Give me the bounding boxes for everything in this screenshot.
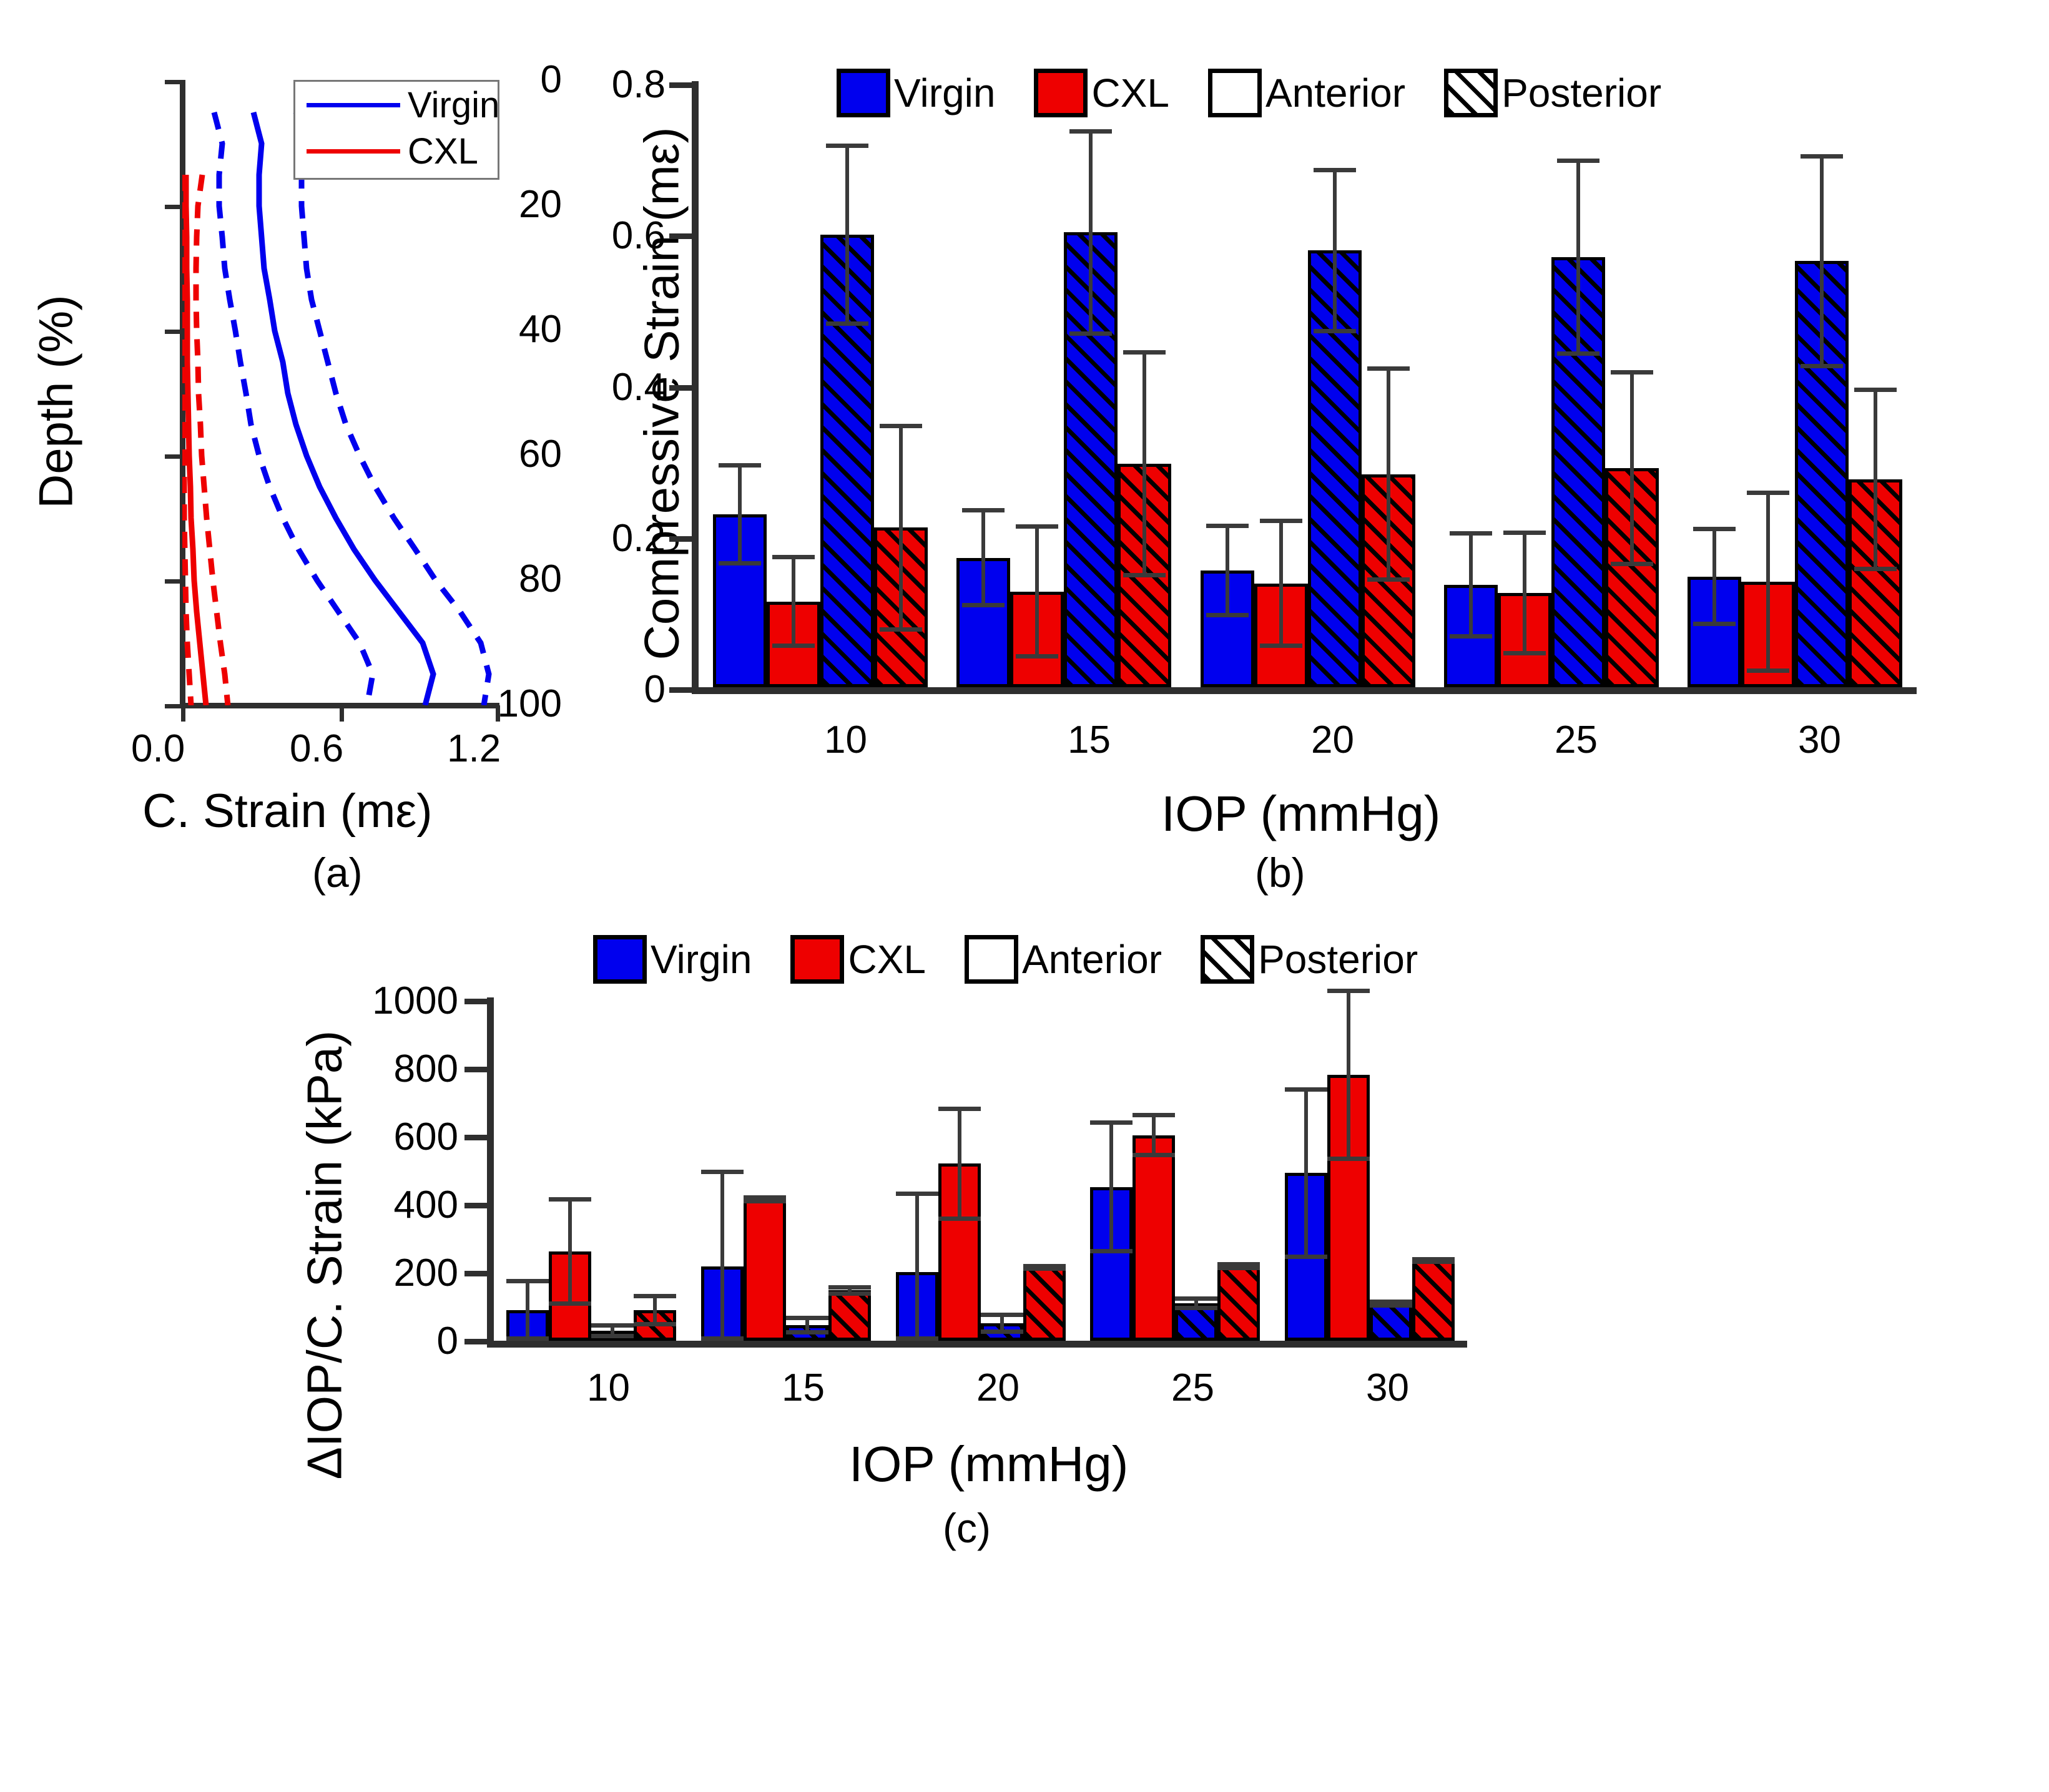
panel-b-ylabel-06: 0.6 [574, 213, 666, 258]
errorbar-c-10-solid-red [549, 1197, 591, 1306]
panel-c-ytick-200 [464, 1271, 488, 1276]
panel-c-legend-label-anterior: Anterior [1022, 936, 1162, 982]
panel-c-legend-label-cxl: CXL [848, 936, 926, 982]
errorbar-b-20-solid-red [1254, 519, 1308, 648]
errorbar-b-15-hatch-red [1118, 350, 1171, 577]
panel-c-x-axis-title: IOP (mmHg) [849, 1436, 1128, 1493]
panel-a-legend-item-virgin: Virgin [302, 83, 501, 127]
panel-a-ytick-40 [165, 330, 182, 334]
panel-c-bars [494, 1001, 1467, 1341]
panel-b-xlabel-25: 25 [1555, 718, 1598, 762]
panel-c-y-axis [487, 997, 494, 1344]
panel-b-ytick-00 [669, 687, 693, 693]
errorbar-b-10-solid-red [767, 555, 820, 649]
panel-c-x-axis [487, 1341, 1467, 1348]
panel-b-caption: (b) [1255, 849, 1305, 896]
errorbar-c-15-hatch-red [828, 1285, 871, 1295]
panel-a-xtick-06 [340, 705, 344, 722]
bar-c-15-solid-red [744, 1200, 786, 1341]
cxl-line-swatch [307, 149, 400, 154]
bar-c-15-hatch-red [828, 1290, 871, 1341]
panel-c-xlabel-25: 25 [1171, 1366, 1214, 1410]
panel-b-ytick-08 [669, 82, 693, 88]
posterior-pattern-swatch [1201, 935, 1254, 984]
errorbar-b-15-solid-red [1010, 524, 1064, 659]
errorbar-b-25-hatch-blue [1551, 159, 1605, 356]
errorbar-c-25-hatch-red [1217, 1262, 1260, 1270]
panel-c-ytick-800 [464, 1067, 488, 1072]
errorbar-b-20-hatch-blue [1308, 168, 1362, 333]
panel-c-legend-item-cxl: CXL [790, 935, 926, 984]
panel-a-virgin-upper-sd [296, 112, 489, 705]
virgin-line-swatch [307, 103, 400, 107]
panel-b: Virgin CXL Anterior Posterior Compressiv… [562, 0, 2049, 893]
panel-b-x-axis-title: IOP (mmHg) [1161, 785, 1440, 843]
errorbar-b-30-solid-blue [1688, 527, 1741, 626]
errorbar-c-30-solid-red [1327, 989, 1370, 1161]
panel-a-caption: (a) [312, 849, 363, 896]
errorbar-b-25-hatch-red [1605, 370, 1659, 566]
panel-a-xlabel-0: 0.0 [131, 727, 185, 771]
panel-a-legend-label-cxl: CXL [408, 130, 478, 172]
errorbar-b-30-hatch-blue [1795, 154, 1849, 368]
errorbar-c-15-solid-blue [701, 1170, 744, 1341]
errorbar-c-30-solid-blue [1285, 1087, 1327, 1259]
errorbar-b-10-solid-blue [713, 463, 767, 566]
bar-c-25-solid-red [1133, 1135, 1175, 1341]
panel-b-x-axis [692, 687, 1917, 694]
panel-b-xlabel-10: 10 [824, 718, 867, 762]
virgin-color-swatch [593, 935, 647, 984]
panel-a-ytick-20 [165, 205, 182, 209]
panel-a-legend: Virgin CXL [293, 80, 499, 180]
panel-c-xlabel-30: 30 [1366, 1366, 1409, 1410]
panel-b-ylabel-02: 0.2 [574, 516, 666, 561]
bar-c-20-hatch-red [1023, 1267, 1066, 1341]
panel-a-x-axis-title: C. Strain (mε) [142, 784, 433, 838]
panel-a-ytick-60 [165, 454, 182, 459]
panel-b-ylabel-00: 0 [574, 667, 666, 712]
errorbar-c-30-hatch-blue [1370, 1300, 1412, 1308]
bar-c-30-hatch-blue [1370, 1303, 1412, 1341]
panel-c-caption: (c) [943, 1504, 991, 1552]
panel-c-legend: Virgin CXL Anterior Posterior [593, 935, 1457, 984]
errorbar-c-20-solid-red [938, 1107, 981, 1221]
panel-a-xlabel-06: 0.6 [290, 727, 343, 771]
panel-c-ytick-1000 [464, 999, 488, 1004]
errorbar-c-20-hatch-blue [981, 1313, 1023, 1334]
panel-c-legend-item-anterior: Anterior [965, 935, 1162, 984]
errorbar-b-20-hatch-red [1362, 366, 1415, 582]
panel-c-ylabel-600: 600 [312, 1115, 458, 1159]
panel-a-legend-item-cxl: CXL [302, 129, 501, 173]
panel-a-ytick-100 [165, 704, 182, 708]
panel-c-legend-label-posterior: Posterior [1258, 936, 1418, 982]
panel-c-ylabel-1000: 1000 [312, 979, 458, 1023]
errorbar-b-20-solid-blue [1201, 524, 1254, 617]
errorbar-c-15-solid-red [744, 1195, 786, 1203]
errorbar-c-20-hatch-red [1023, 1264, 1066, 1271]
errorbar-c-20-solid-blue [896, 1192, 938, 1341]
panel-b-ytick-02 [669, 536, 693, 542]
panel-c-legend-label-virgin: Virgin [651, 936, 752, 982]
panel-a-xlabel-12: 1.2 [447, 727, 501, 771]
errorbar-c-25-hatch-blue [1175, 1296, 1217, 1310]
panel-a-legend-label-virgin: Virgin [408, 84, 499, 126]
errorbar-c-15-hatch-blue [786, 1316, 828, 1334]
panel-c-ylabel-200: 200 [312, 1251, 458, 1295]
panel-c-ytick-600 [464, 1135, 488, 1140]
panel-b-ytick-06 [669, 233, 693, 239]
errorbar-b-15-hatch-blue [1064, 129, 1118, 336]
panel-c-legend-item-posterior: Posterior [1201, 935, 1418, 984]
panel-c: Virgin CXL Anterior Posterior ΔIOP/C. St… [219, 918, 1842, 1791]
errorbar-c-25-solid-blue [1090, 1120, 1133, 1254]
errorbar-b-30-hatch-red [1849, 388, 1902, 571]
panel-a-xtick-0 [181, 705, 185, 722]
errorbar-b-10-hatch-blue [820, 144, 874, 326]
bar-c-25-hatch-red [1217, 1266, 1260, 1341]
panel-c-xlabel-15: 15 [782, 1366, 825, 1410]
errorbar-b-25-solid-red [1498, 531, 1551, 655]
panel-a-y-axis-title: Depth (%) [29, 271, 84, 533]
errorbar-b-30-solid-red [1741, 491, 1795, 673]
figure-root: 0 20 40 60 80 100 0.0 0.6 1.2 Depth (%) … [0, 0, 2049, 1792]
errorbar-c-25-solid-red [1133, 1113, 1175, 1157]
panel-b-bars [699, 85, 1917, 687]
panel-c-xlabel-10: 10 [587, 1366, 630, 1410]
panel-c-ylabel-0: 0 [312, 1319, 458, 1363]
panel-a-ytick-80 [165, 579, 182, 584]
panel-b-xlabel-30: 30 [1798, 718, 1841, 762]
panel-c-ytick-0 [464, 1339, 488, 1344]
errorbar-b-15-solid-blue [956, 508, 1010, 607]
panel-a: 0 20 40 60 80 100 0.0 0.6 1.2 Depth (%) … [0, 0, 562, 893]
errorbar-c-10-hatch-blue [591, 1323, 634, 1338]
panel-c-ylabel-800: 800 [312, 1047, 458, 1091]
anterior-pattern-swatch [965, 935, 1018, 984]
errorbar-b-10-hatch-red [874, 424, 928, 632]
panel-c-legend-item-virgin: Virgin [593, 935, 752, 984]
panel-a-ytick-0 [165, 80, 182, 84]
bar-c-30-hatch-red [1412, 1261, 1455, 1341]
errorbar-b-25-solid-blue [1444, 531, 1498, 638]
panel-b-ytick-04 [669, 385, 693, 391]
errorbar-c-10-hatch-red [634, 1294, 676, 1326]
errorbar-c-30-hatch-red [1412, 1257, 1455, 1264]
panel-b-ylabel-04: 0.4 [574, 365, 666, 409]
panel-b-ylabel-08: 0.8 [574, 62, 666, 107]
errorbar-c-10-solid-blue [506, 1279, 549, 1341]
panel-c-ytick-400 [464, 1203, 488, 1208]
panel-b-xlabel-15: 15 [1068, 718, 1111, 762]
cxl-color-swatch [790, 935, 844, 984]
panel-c-xlabel-20: 20 [976, 1366, 1020, 1410]
panel-c-ylabel-400: 400 [312, 1183, 458, 1227]
panel-b-xlabel-20: 20 [1311, 718, 1354, 762]
panel-a-xtick-12 [496, 705, 500, 722]
